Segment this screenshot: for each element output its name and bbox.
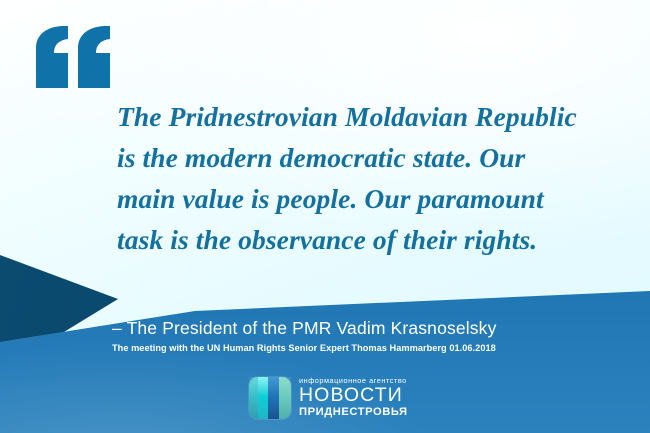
quote-line: task is the observance of their rights. [117, 219, 633, 260]
attribution: – The President of the PMR Vadim Krasnos… [112, 318, 632, 355]
logo-main-title: НОВОСТИ [299, 385, 408, 406]
quote-line: is the modern democratic state. Our [117, 137, 633, 178]
attribution-author: – The President of the PMR Vadim Krasnos… [112, 318, 632, 339]
quote-line: The Pridnestrovian Moldavian Republic [117, 96, 633, 137]
logo-subtitle: ПРИДНЕСТРОВЬЯ [299, 406, 408, 419]
logo-text: информационное агентство НОВОСТИ ПРИДНЕС… [299, 376, 408, 419]
quote-card: The Pridnestrovian Moldavian Republic is… [0, 0, 650, 433]
open-double-quote-icon [30, 26, 116, 88]
attribution-context: The meeting with the UN Human Rights Sen… [112, 342, 632, 355]
quote-line: main value is people. Our paramount [117, 178, 633, 219]
news-agency-squares-icon [249, 377, 291, 419]
logo[interactable]: информационное агентство НОВОСТИ ПРИДНЕС… [249, 376, 408, 419]
quote-text: The Pridnestrovian Moldavian Republic is… [117, 96, 633, 260]
